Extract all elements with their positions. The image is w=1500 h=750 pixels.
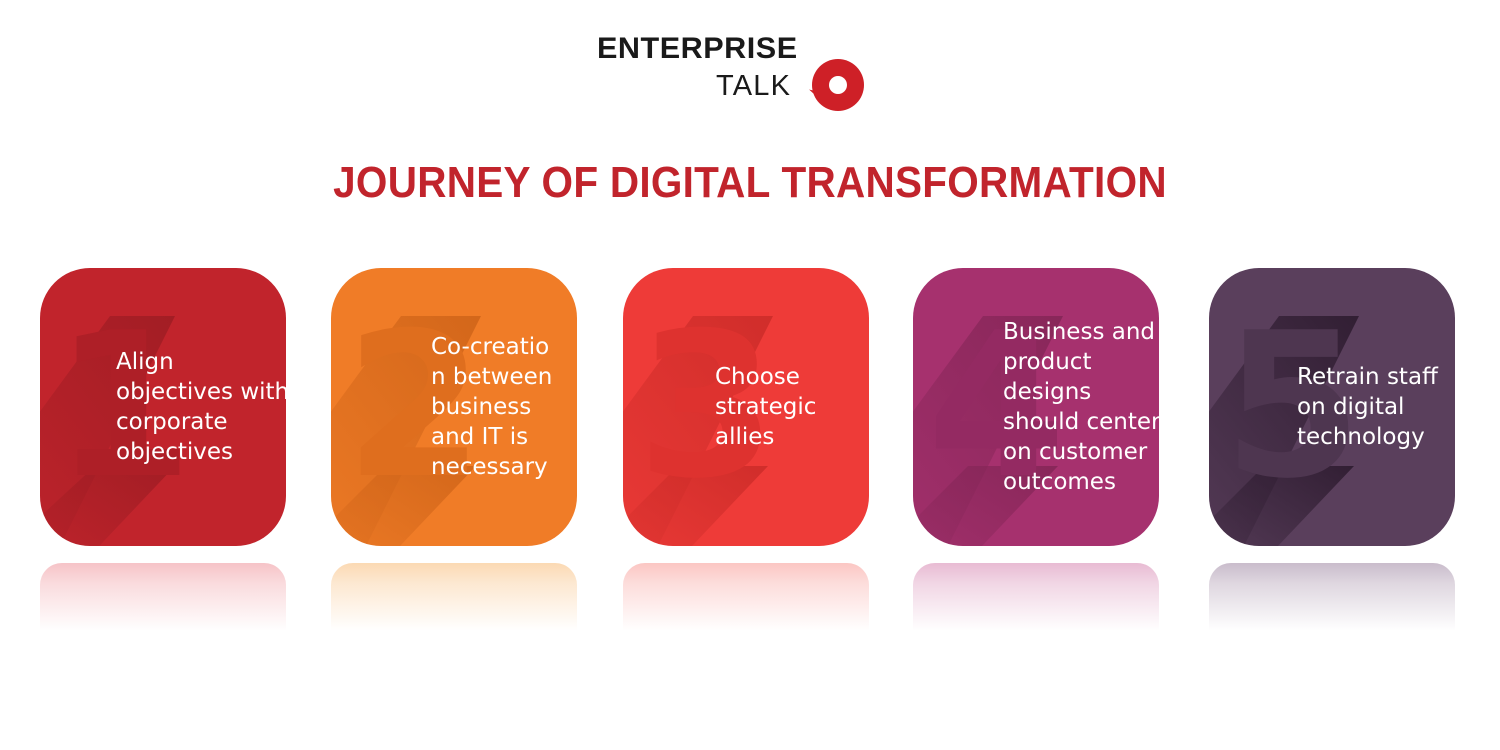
step-text-2: Co-creatio n between business and IT is …	[431, 332, 577, 482]
step-text-3: Choose strategic allies	[715, 362, 869, 452]
step-card-body: 1 Align objectives with corporate object…	[40, 268, 286, 546]
step-card-2[interactable]: 2 Co-creatio n between business and IT i…	[331, 268, 577, 546]
step-card-4[interactable]: 4 Business and product designs should ce…	[913, 268, 1159, 546]
infographic-page: ENTERPRISE TALK JOURNEY OF DIGITAL TRANS…	[0, 0, 1500, 750]
step-text-5: Retrain staff on digital technology	[1297, 362, 1455, 452]
step-reflection-2	[331, 563, 577, 631]
step-card-5[interactable]: 5 Retrain staff on digital technology	[1209, 268, 1455, 546]
step-card-body: 3 Choose strategic allies	[623, 268, 869, 546]
step-card-3[interactable]: 3 Choose strategic allies	[623, 268, 869, 546]
step-card-body: 2 Co-creatio n between business and IT i…	[331, 268, 577, 546]
step-card-1[interactable]: 1 Align objectives with corporate object…	[40, 268, 286, 546]
step-reflection-4	[913, 563, 1159, 631]
step-reflection-1	[40, 563, 286, 631]
step-reflection-3	[623, 563, 869, 631]
steps-row: 1 Align objectives with corporate object…	[0, 0, 1500, 750]
step-card-body: 4 Business and product designs should ce…	[913, 268, 1159, 546]
step-text-4: Business and product designs should cent…	[1003, 317, 1159, 497]
step-reflection-5	[1209, 563, 1455, 631]
step-text-1: Align objectives with corporate objectiv…	[116, 347, 286, 467]
step-card-body: 5 Retrain staff on digital technology	[1209, 268, 1455, 546]
